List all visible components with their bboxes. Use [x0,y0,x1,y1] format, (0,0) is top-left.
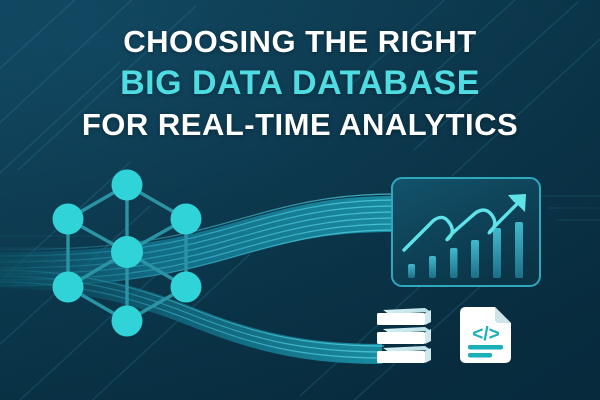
code-document-icon: </> [460,307,511,363]
database-slab-side [425,310,431,325]
code-glyph: </> [472,324,499,345]
document-folded-corner [495,307,511,323]
icons-svg: </> [0,0,600,400]
database-slab [377,351,425,363]
document-text-line [468,345,503,350]
database-slab [377,313,425,325]
database-slab-side [425,348,431,363]
database-slab [377,332,425,344]
document-text-line [468,353,492,358]
data-icons-group: </> [0,0,600,400]
database-stack-icon [377,308,431,363]
database-slab-side [425,329,431,344]
poster-canvas: CHOOSING THE RIGHT BIG DATA DATABASE FOR… [0,0,600,400]
